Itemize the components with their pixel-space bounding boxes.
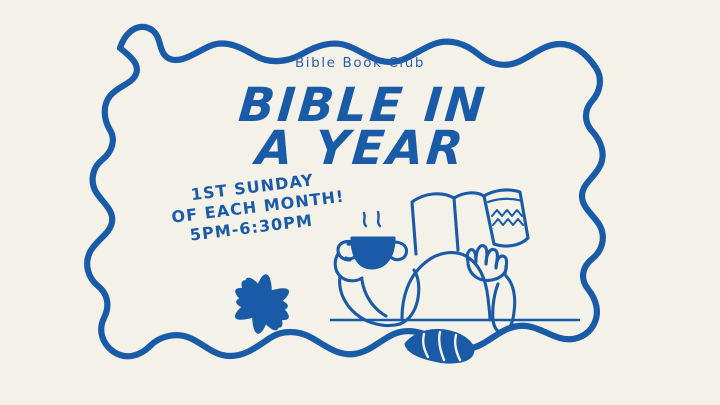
eyebrow-text: Bible Book Club: [0, 55, 720, 71]
open-book-spine: [454, 193, 484, 198]
title-line-2: A YEAR: [0, 127, 720, 170]
reading-hand-palm: [468, 264, 506, 280]
person-reading-book-illustration: [330, 180, 580, 370]
steam-wisp: [378, 212, 380, 226]
six-petal-flower-icon: [212, 258, 312, 350]
poster-canvas: Bible Book Club BIBLE IN A YEAR 1ST SUND…: [0, 0, 720, 405]
person-right-forearm: [493, 284, 498, 320]
open-book-left-page: [412, 194, 458, 254]
book-text-squiggle: [493, 219, 523, 225]
book-text-squiggle: [492, 210, 522, 216]
book-page-edge: [488, 199, 522, 202]
steam-wisp: [364, 213, 366, 226]
person-head-shoulders: [402, 253, 466, 318]
person-left-forearm: [362, 280, 386, 316]
page-title: BIBLE IN A YEAR: [0, 84, 720, 170]
